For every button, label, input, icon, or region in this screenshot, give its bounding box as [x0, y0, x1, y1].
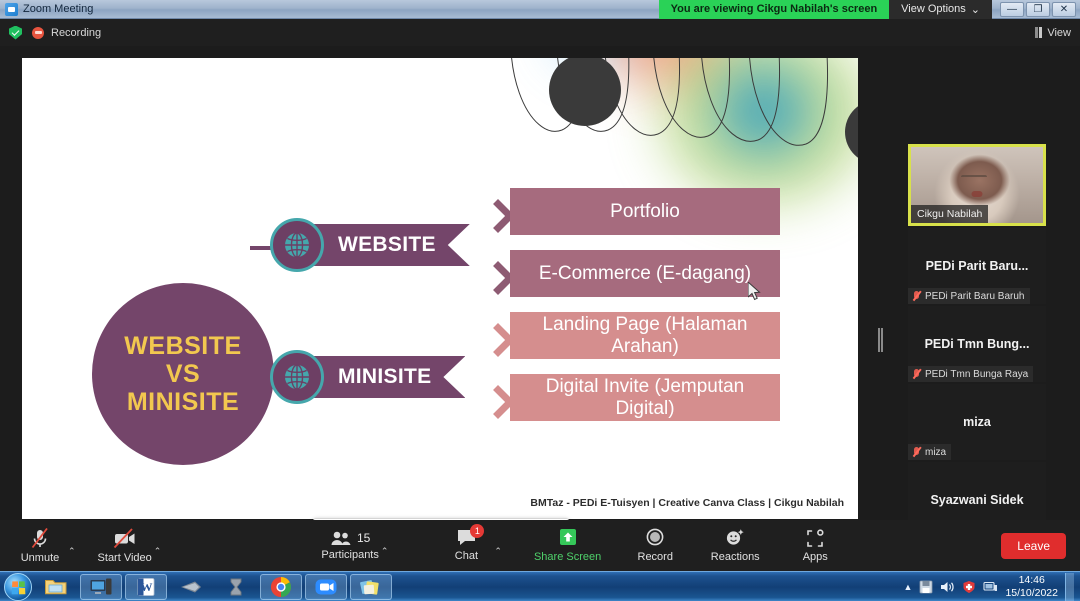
scanner-icon[interactable]: [170, 574, 212, 600]
start-video-label: Start Video: [98, 552, 152, 564]
hub-circle: WEBSITE VS MINISITE: [92, 283, 274, 465]
view-options-button[interactable]: View Options ⌄: [889, 0, 992, 19]
system-tray: ▲ 14:46 15/10: [904, 573, 1080, 601]
hourglass-icon[interactable]: [215, 574, 257, 600]
microphone-muted-icon: [912, 368, 921, 380]
branch-label-website: WEBSITE: [310, 224, 470, 266]
sticky-notes-icon[interactable]: [350, 574, 392, 600]
chat-options-caret-icon[interactable]: ⌃: [494, 546, 502, 557]
recording-label: Recording: [51, 27, 101, 39]
participant-badge-name: miza: [925, 447, 946, 458]
apps-label: Apps: [803, 551, 828, 563]
hub-line-1: WEBSITE: [124, 332, 241, 360]
show-desktop-button[interactable]: [1065, 573, 1074, 601]
view-options-label: View Options: [901, 3, 966, 15]
window-titlebar: Zoom Meeting You are viewing Cikgu Nabil…: [0, 0, 1080, 19]
minimize-button[interactable]: —: [1000, 2, 1024, 17]
microphone-muted-icon: [912, 446, 921, 458]
window-controls: — ❐ ✕: [1000, 2, 1076, 17]
windows-taskbar: W: [0, 571, 1080, 601]
shield-icon[interactable]: [9, 26, 22, 40]
viewing-screen-banner: You are viewing Cikgu Nabilah's screen: [659, 0, 890, 19]
chevron-arrow-ecommerce-icon: [486, 258, 512, 292]
slide-credit-text: BMTaz - PEDi E-Tuisyen | Creative Canva …: [530, 497, 844, 509]
show-hidden-icons-icon[interactable]: ▲: [904, 582, 913, 592]
participant-badge-name: PEDi Parit Baru Baruh: [925, 291, 1025, 302]
participants-icon: [330, 531, 352, 546]
restore-button[interactable]: ❐: [1026, 2, 1050, 17]
apps-button[interactable]: Apps: [789, 520, 841, 571]
record-icon: [645, 528, 665, 548]
chevron-arrow-invite-icon: [486, 382, 512, 416]
participant-name-badge: PEDi Tmn Bunga Raya: [908, 366, 1033, 382]
chat-unread-badge: 1: [470, 524, 484, 538]
start-video-button[interactable]: Start Video: [98, 520, 152, 571]
outcome-box-landing-page: Landing Page (Halaman Arahan): [510, 312, 780, 359]
record-label: Record: [638, 551, 673, 563]
view-button[interactable]: View: [1035, 27, 1071, 39]
share-screen-label: Share Screen: [534, 551, 601, 563]
participant-display-name: PEDi Tmn Bung...: [925, 337, 1030, 351]
chat-label: Chat: [455, 550, 478, 562]
word-icon[interactable]: W: [125, 574, 167, 600]
branch-minisite: MINISITE: [270, 350, 465, 404]
participants-options-caret-icon[interactable]: ⌃: [381, 546, 389, 557]
outcome-box-portfolio: Portfolio: [510, 188, 780, 235]
participant-tile[interactable]: PEDi Parit Baru... PEDi Parit Baru Baruh: [908, 228, 1046, 304]
participant-display-name: Syazwani Sidek: [930, 493, 1023, 507]
save-icon[interactable]: [919, 580, 933, 594]
unmute-button[interactable]: Unmute: [14, 520, 66, 571]
participant-badge-name: PEDi Tmn Bunga Raya: [925, 369, 1028, 380]
audio-options-caret-icon[interactable]: ⌃: [68, 546, 76, 557]
chat-button[interactable]: 1 Chat: [440, 520, 492, 571]
recording-indicator-icon[interactable]: [32, 27, 44, 39]
branch-label-minisite: MINISITE: [310, 356, 465, 398]
unmute-label: Unmute: [21, 552, 60, 564]
windows-start-orb-icon[interactable]: [4, 573, 32, 601]
clock-time: 14:46: [1005, 574, 1058, 587]
reactions-label: Reactions: [711, 551, 760, 563]
participant-tile-active-speaker[interactable]: Cikgu Nabilah: [908, 144, 1046, 226]
participant-display-name: miza: [963, 415, 991, 429]
zoom-meeting-window: Zoom Meeting You are viewing Cikgu Nabil…: [0, 0, 1080, 601]
hub-line-2: VS: [166, 360, 200, 388]
leave-button[interactable]: Leave: [1001, 533, 1066, 559]
microphone-muted-icon: [30, 528, 50, 549]
zoom-top-bar: Recording View: [0, 19, 1080, 46]
reactions-button[interactable]: Reactions: [709, 520, 761, 571]
outcome-box-ecommerce: E-Commerce (E-dagang): [510, 250, 780, 297]
participant-tile[interactable]: miza miza: [908, 384, 1046, 460]
record-button[interactable]: Record: [629, 520, 681, 571]
svg-text:W: W: [141, 580, 153, 594]
mouse-cursor-icon: [748, 282, 761, 301]
meeting-stage: WEBSITE VS MINISITE: [0, 46, 1080, 520]
close-button[interactable]: ✕: [1052, 2, 1076, 17]
file-explorer-icon[interactable]: [35, 574, 77, 600]
participant-display-name: PEDi Parit Baru...: [926, 259, 1029, 273]
hub-line-3: MINISITE: [127, 388, 239, 416]
layout-icon: [1035, 27, 1043, 38]
participants-button[interactable]: 15 Participants: [321, 520, 378, 571]
zoom-window-icon: [5, 3, 18, 16]
microphone-muted-icon: [912, 290, 921, 302]
branch-website: WEBSITE: [270, 218, 470, 272]
chevron-arrow-portfolio-icon: [486, 196, 512, 230]
shared-screen-slide[interactable]: WEBSITE VS MINISITE: [22, 58, 858, 519]
network-icon[interactable]: [983, 580, 998, 593]
participant-name-badge: PEDi Parit Baru Baruh: [908, 288, 1030, 304]
zoom-icon[interactable]: [305, 574, 347, 600]
volume-icon[interactable]: [940, 580, 955, 594]
globe-icon: [270, 218, 324, 272]
globe-icon: [270, 350, 324, 404]
window-title: Zoom Meeting: [23, 3, 93, 15]
chevron-down-icon: ⌄: [971, 3, 980, 16]
participants-label: Participants: [321, 549, 378, 561]
chrome-icon[interactable]: [260, 574, 302, 600]
share-screen-icon: [557, 528, 579, 548]
participant-name-badge: miza: [908, 444, 951, 460]
participant-name-badge: Cikgu Nabilah: [911, 205, 988, 223]
video-options-caret-icon[interactable]: ⌃: [154, 546, 162, 557]
meeting-toolbar: Unmute ⌃ Start Video ⌃: [0, 520, 1080, 571]
view-button-label: View: [1047, 27, 1071, 39]
reactions-icon: [724, 528, 746, 548]
taskbar-clock[interactable]: 14:46 15/10/2022: [1005, 574, 1058, 600]
share-screen-button[interactable]: Share Screen: [534, 520, 601, 571]
antivirus-icon[interactable]: [962, 580, 976, 594]
panel-resize-handle[interactable]: [878, 328, 883, 352]
apps-icon: [805, 529, 825, 548]
participants-video-strip: Cikgu Nabilah PEDi Parit Baru... PEDi Pa…: [908, 144, 1050, 563]
clock-date: 15/10/2022: [1005, 587, 1058, 600]
chevron-arrow-landing-icon: [486, 320, 512, 354]
participant-tile[interactable]: PEDi Tmn Bung... PEDi Tmn Bunga Raya: [908, 306, 1046, 382]
computer-icon[interactable]: [80, 574, 122, 600]
camera-off-icon: [113, 528, 137, 549]
outcome-box-digital-invite: Digital Invite (Jemputan Digital): [510, 374, 780, 421]
participants-count: 15: [357, 531, 370, 545]
